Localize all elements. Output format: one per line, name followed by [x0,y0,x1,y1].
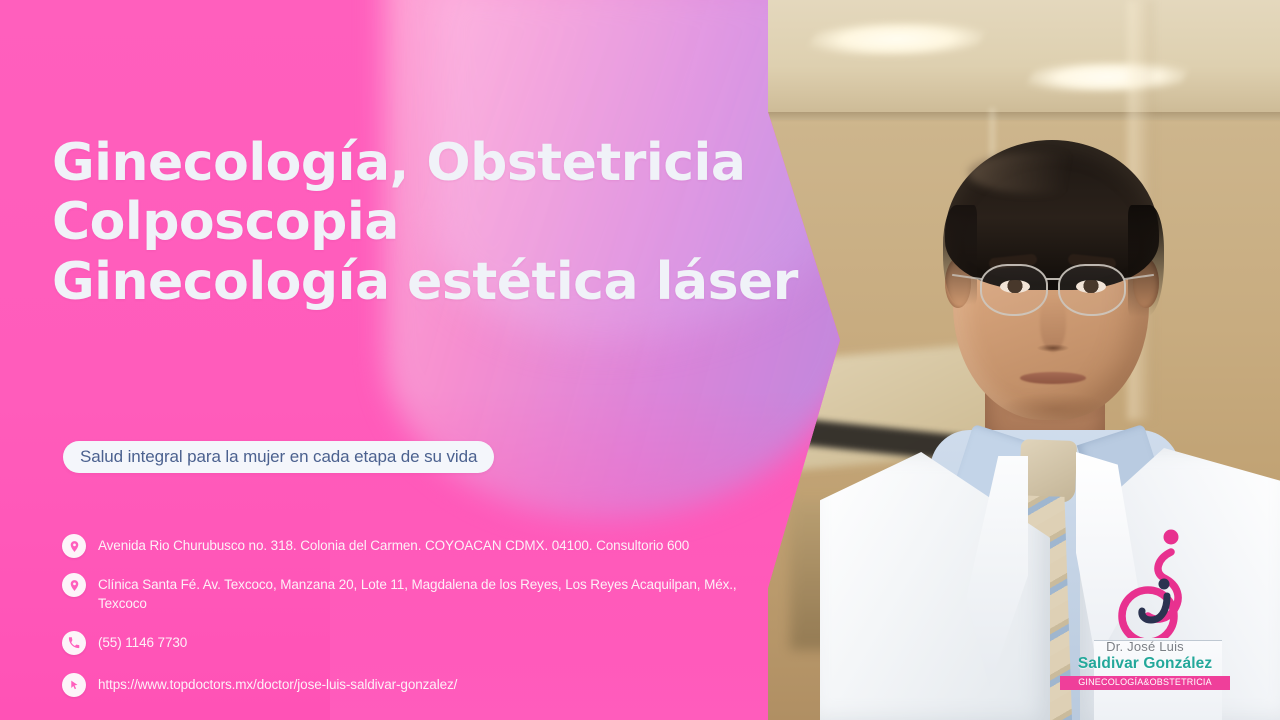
coat-badge-title: Dr. José Luis [1060,640,1230,655]
contact-row-website[interactable]: https://www.topdoctors.mx/doctor/jose-lu… [62,675,792,697]
eyeglasses-lens-left [980,264,1048,316]
cursor-pointer-icon [62,673,86,697]
coat-name-badge: Dr. José Luis Saldivar González GINECOLO… [1060,640,1230,690]
contact-text: (55) 1146 7730 [98,633,187,652]
panel-content: Ginecología, Obstetricia Colposcopia Gin… [0,0,860,720]
contact-row-phone[interactable]: (55) 1146 7730 [62,633,792,655]
page-title: Ginecología, Obstetricia Colposcopia Gin… [52,134,812,312]
headline-line-3: Ginecología estética láser [52,253,812,312]
eyeglasses-bridge [1046,278,1060,280]
tagline-text: Salud integral para la mujer en cada eta… [80,447,477,467]
doctor-nostrils [1037,344,1069,352]
headline-line-2: Colposcopia [52,193,812,252]
phone-icon [62,631,86,655]
headline-line-1: Ginecología, Obstetricia [52,134,812,193]
contact-text: Avenida Rio Churubusco no. 318. Colonia … [98,536,689,555]
doctor-sideburn-left [943,205,977,305]
location-pin-icon [62,573,86,597]
doctor-mouth [1020,372,1086,384]
doctor-chin-shadow [1000,392,1110,426]
coat-badge-specialty: GINECOLOGÍA&OBSTETRICIA [1060,676,1230,691]
contact-info-list: Avenida Rio Churubusco no. 318. Colonia … [62,536,792,697]
coat-badge-surname: Saldivar González [1060,655,1230,674]
clinic-monogram-logo-icon [1108,528,1204,638]
contact-text: https://www.topdoctors.mx/doctor/jose-lu… [98,675,457,694]
doctor-sideburn-right [1128,205,1164,317]
doctor-hair-highlight [968,152,1108,194]
location-pin-icon [62,534,86,558]
contact-row-address-2: Clínica Santa Fé. Av. Texcoco, Manzana 2… [62,575,792,613]
eyeglasses-lens-right [1058,264,1126,316]
contact-row-address-1: Avenida Rio Churubusco no. 318. Colonia … [62,536,792,558]
contact-text: Clínica Santa Fé. Av. Texcoco, Manzana 2… [98,575,788,613]
ceiling-light-2 [1024,62,1191,92]
clinic-promo-banner: Dr. José Luis Saldivar González GINECOLO… [0,0,1280,720]
tagline-pill: Salud integral para la mujer en cada eta… [63,441,494,473]
